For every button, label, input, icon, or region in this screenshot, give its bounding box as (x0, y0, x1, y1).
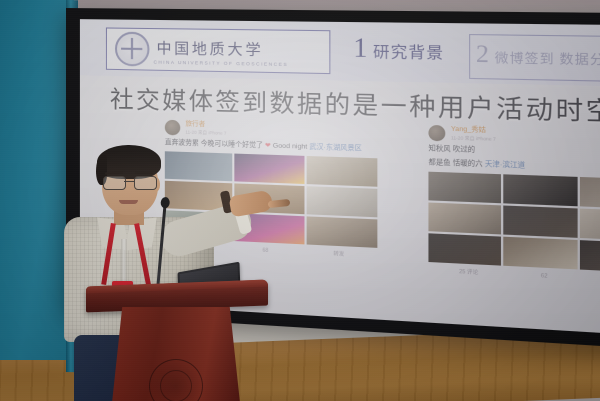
heart-icon: ❤ (265, 142, 271, 149)
post-left-body2: Good night (273, 142, 308, 150)
like-icon[interactable]: 62 (541, 272, 547, 280)
post-photo (503, 206, 577, 238)
slide-section-1: 1 研究背景 (353, 35, 444, 64)
share-icon[interactable]: 转发 (333, 250, 344, 258)
post-right-body2: 都是鱼 恬暖的六 (428, 159, 482, 168)
university-name-en: CHINA UNIVERSITY OF GEOSCIENCES (154, 60, 289, 68)
post-photo (503, 237, 577, 270)
section-1-label: 研究背景 (373, 40, 444, 63)
podium-emblem-icon (149, 359, 203, 401)
post-photo (580, 209, 600, 242)
glasses-bridge (124, 181, 134, 182)
section-2-number: 2 (476, 42, 489, 67)
post-photo (428, 203, 501, 235)
university-name-cn: 中国地质大学 (157, 42, 264, 59)
post-photo (306, 186, 377, 217)
podium (86, 283, 268, 401)
post-photo (428, 172, 501, 204)
section-2-label: 微博签到 数据分析 (495, 48, 600, 68)
post-left-location: 武汉·东湖风景区 (309, 144, 362, 153)
post-right-body: 知秋风 吹过的 (428, 145, 475, 154)
university-logo-block: 中国地质大学 CHINA UNIVERSITY OF GEOSCIENCES (106, 27, 330, 74)
conference-photo-scene: 中国地质大学 CHINA UNIVERSITY OF GEOSCIENCES 1… (0, 0, 600, 401)
section-1-number: 1 (353, 35, 367, 63)
lens-right (134, 176, 157, 190)
presenter-mouth (119, 200, 138, 204)
avatar (428, 125, 445, 141)
post-right-photo-grid (428, 172, 600, 274)
post-photo (503, 175, 577, 207)
post-left-stamp: 11-20 来自 iPhone 7 (185, 129, 226, 136)
post-photo (580, 241, 600, 274)
comment-icon[interactable]: 25 评论 (459, 268, 478, 276)
like-icon[interactable]: 68 (262, 247, 268, 255)
avatar (165, 120, 180, 136)
weibo-post-right: Yang_秀姑 11-20 来自 iPhone 7 知秋风 吹过的 都是鱼 恬暖… (428, 125, 600, 286)
post-right-location: 天津·滨江道 (485, 161, 525, 170)
post-photo (235, 154, 304, 184)
university-seal-icon (115, 32, 149, 67)
post-photo (306, 156, 377, 187)
slide-section-2: 2 微博签到 数据分析 (476, 42, 600, 69)
lens-left (103, 176, 126, 190)
post-photo (306, 217, 377, 249)
post-photo (428, 234, 501, 266)
eyeglasses-icon (103, 176, 157, 188)
podium-front-panel (112, 307, 240, 401)
post-right-stamp: 11-20 来自 iPhone 7 (451, 135, 496, 142)
post-photo (580, 177, 600, 209)
